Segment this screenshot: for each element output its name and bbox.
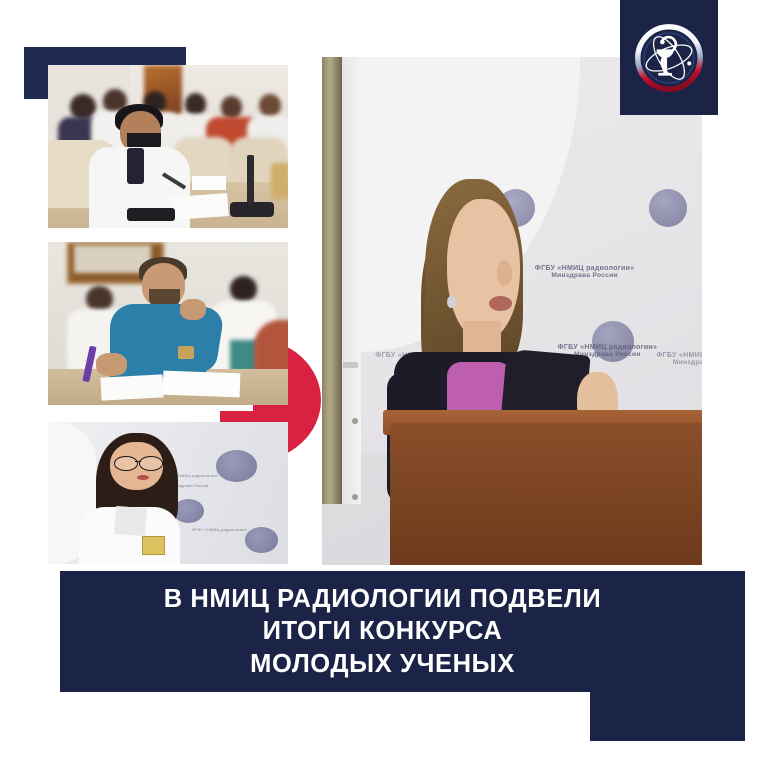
backdrop-text-line1: ФГБУ «НМИЦ радиологии» (558, 344, 658, 351)
title-line-2: ИТОГИ КОНКУРСА (164, 615, 602, 647)
backdrop-text: ФГБУ «НМИЦ радиологии» (192, 527, 247, 532)
photo-woman-in-glasses: ФГБУ «НМИЦ радиологии» Минздрава России … (48, 422, 288, 564)
backdrop-text-line2: Минздрава России (656, 359, 702, 366)
photo-speaker-at-podium: ФГБУ «НМИЦ радиологии» Минздрава России … (322, 57, 702, 565)
medical-emblem-icon (630, 19, 708, 97)
title-line-3: МОЛОДЫХ УЧЕНЫХ (164, 648, 602, 680)
nmic-radiology-logo-badge (620, 0, 718, 115)
backdrop-text: ФГБУ «НМИЦ радиологии» Минздрава России (535, 265, 635, 279)
photo-conference-room (48, 65, 288, 228)
backdrop-text-line1: ФГБУ «НМИЦ радиологии» (656, 352, 702, 359)
backdrop-text: ФГБУ «НМИЦ радиологии» Минздрава России (656, 352, 702, 366)
backdrop-text-line1: ФГБУ «НМИЦ радиологии» (535, 265, 635, 272)
page-title: В НМИЦ РАДИОЛОГИИ ПОДВЕЛИ ИТОГИ КОНКУРСА… (144, 583, 622, 679)
backdrop-text-line2: Минздрава России (535, 272, 635, 279)
title-line-1: В НМИЦ РАДИОЛОГИИ ПОДВЕЛИ (164, 583, 602, 615)
title-banner: В НМИЦ РАДИОЛОГИИ ПОДВЕЛИ ИТОГИ КОНКУРСА… (60, 571, 705, 692)
poster-canvas: ФГБУ «НМИЦ радиологии» Минздрава России … (0, 0, 768, 768)
photo-doctor-in-scrubs (48, 242, 288, 405)
